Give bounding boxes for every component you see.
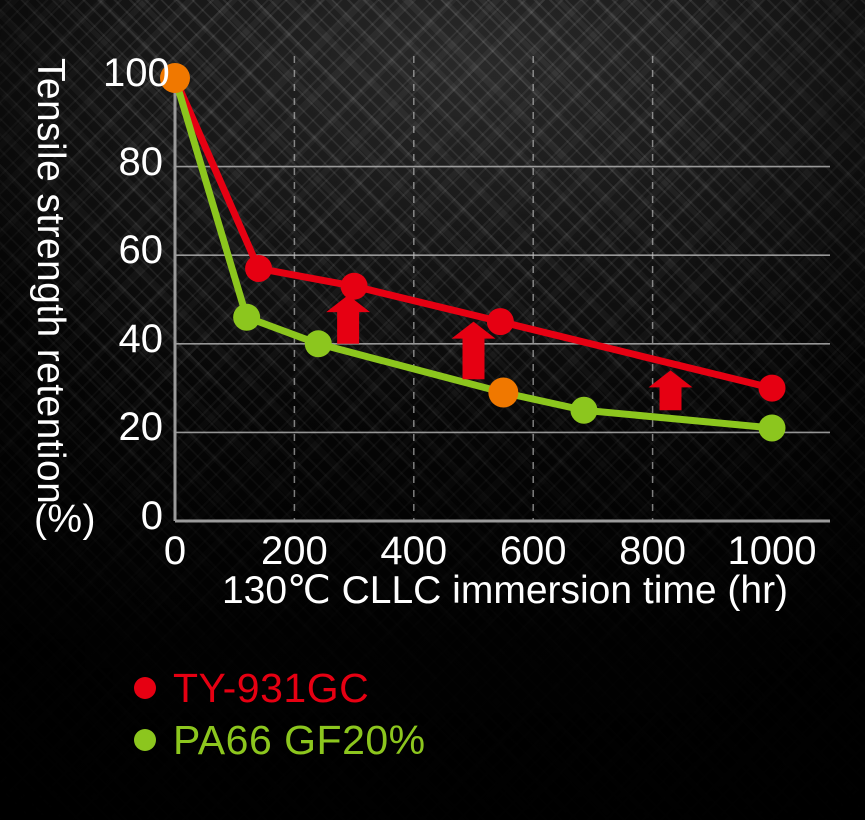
y-tick-label: 20 [103,405,163,450]
y-tick-label: 80 [103,140,163,185]
y-axis-title: Tensile strength retention [28,58,72,504]
pa66-550hr-point [488,378,518,408]
data-point [487,308,514,335]
y-tick-label: 40 [103,317,163,362]
data-point [341,273,368,300]
data-point [233,304,260,331]
legend-label: TY-931GC [173,668,369,709]
legend-marker-icon [134,729,156,751]
x-axis-title: 130℃ CLLC immersion time (hr) [175,568,835,613]
axis-lines [175,66,830,521]
gap-arrow-2 [452,322,496,380]
legend-item-ty931gc: TY-931GC [134,662,426,714]
legend-item-pa66gf20: PA66 GF20% [134,714,426,766]
legend-marker-icon [134,677,156,699]
chart-canvas: 020406080100 02004006008001000 Tensile s… [0,0,865,820]
data-series [160,63,786,441]
data-point [245,255,272,282]
gap-arrow-1 [326,295,370,344]
data-point [759,414,786,441]
grid-lines [175,56,830,521]
chart-legend: TY-931GC PA66 GF20% [134,662,426,766]
y-tick-label: 60 [103,228,163,273]
gap-arrow-3 [649,370,693,410]
y-axis-unit-label: (%) [34,498,96,542]
data-point [570,397,597,424]
data-point [759,375,786,402]
data-point [305,330,332,357]
y-tick-label: 100 [103,51,163,96]
legend-label: PA66 GF20% [173,720,426,761]
y-tick-label: 0 [103,494,163,539]
